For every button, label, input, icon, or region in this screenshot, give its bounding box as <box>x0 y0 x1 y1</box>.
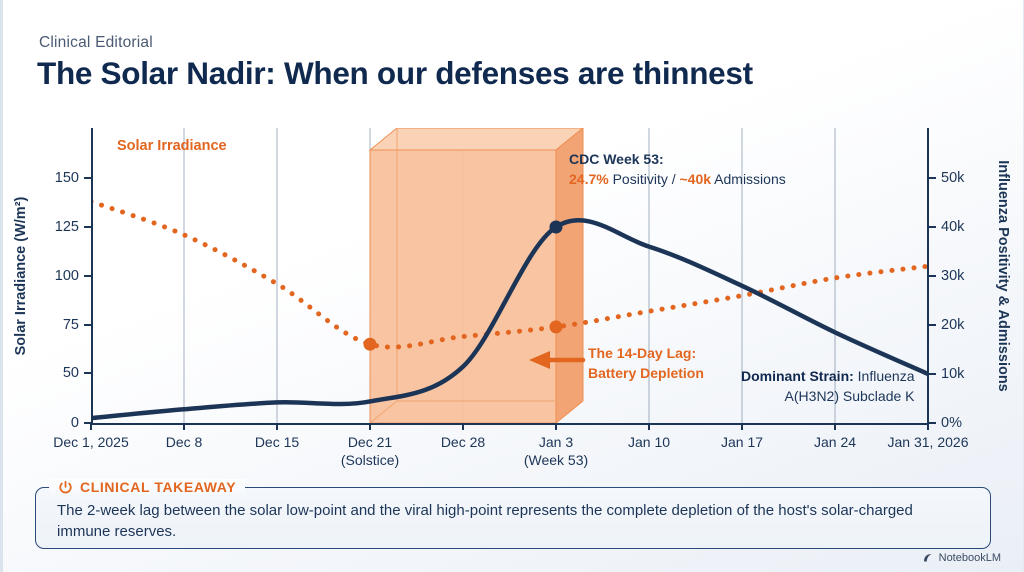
annotation-cdc-week-53: CDC Week 53: 24.7% Positivity / ~40k Adm… <box>569 149 786 190</box>
x-tick-label: Dec 1, 2025 <box>53 434 129 452</box>
x-tick-label: Jan 10 <box>628 434 670 452</box>
x-tick-label: Jan 17 <box>721 434 763 452</box>
x-tick-label: Jan 24 <box>814 434 856 452</box>
brand-label: NotebookLM <box>939 552 1001 564</box>
chart-area: Solar Irradiance (W/m²) Influenza Positi… <box>91 128 929 425</box>
annotation-fourteen-day-lag: The 14-Day Lag: Battery Depletion <box>588 343 704 384</box>
y2-tick-label: 20k <box>941 317 964 333</box>
x-tick <box>741 423 743 430</box>
y-tick-label: 75 <box>63 317 79 333</box>
y-tick-label: 100 <box>55 268 79 284</box>
x-tick <box>90 423 92 430</box>
series-marker <box>550 320 563 333</box>
x-tick-label: Jan 3(Week 53) <box>524 434 588 469</box>
y-tick <box>84 226 91 228</box>
shaded-region-prism <box>370 128 583 423</box>
annotation-strain-line1: Influenza <box>854 368 915 384</box>
annotation-lag-line2: Battery Depletion <box>588 365 704 381</box>
y2-tick-label: 0% <box>941 415 962 431</box>
x-tick-label: Dec 28 <box>441 434 485 452</box>
notebooklm-logo-icon <box>922 552 934 564</box>
series-marker <box>364 338 377 351</box>
y2-tick <box>929 422 936 424</box>
brand-watermark: NotebookLM <box>922 552 1001 564</box>
annotation-admissions-value: ~40k <box>680 171 712 187</box>
x-tick-label: Jan 31, 2026 <box>888 434 969 452</box>
annotation-positivity-text: Positivity / <box>609 171 680 187</box>
y-tick-label: 0 <box>71 415 79 431</box>
x-axis-line <box>91 423 929 425</box>
y2-tick <box>929 373 936 375</box>
annotation-cdc-title: CDC Week 53: <box>569 149 786 169</box>
y2-axis-title: Influenza Positivity & Admissions <box>995 160 1011 392</box>
x-tick <box>927 423 929 430</box>
page-title: The Solar Nadir: When our defenses are t… <box>37 55 753 92</box>
x-tick-label: Dec 15 <box>255 434 299 452</box>
x-tick-label: Dec 21(Solstice) <box>341 434 399 469</box>
annotation-admissions-text: Admissions <box>711 171 786 187</box>
annotation-strain-line2: A(H3N2) Subclade K <box>785 388 915 404</box>
x-tick <box>276 423 278 430</box>
y-axis-title: Solar Irradiance (W/m²) <box>13 197 29 356</box>
y-tick <box>84 177 91 179</box>
x-tick <box>834 423 836 430</box>
x-tick <box>555 423 557 430</box>
y-tick <box>84 275 91 277</box>
annotation-strain-label: Dominant Strain: <box>741 368 854 384</box>
y-tick-label: 125 <box>55 219 79 235</box>
kicker: Clinical Editorial <box>39 34 153 52</box>
y2-tick-label: 30k <box>941 268 964 284</box>
takeaway-title: CLINICAL TAKEAWAY <box>80 479 236 495</box>
legend-solar-irradiance: Solar Irradiance <box>117 138 227 154</box>
y-tick-label: 150 <box>55 170 79 186</box>
y-tick <box>84 324 91 326</box>
takeaway-title-group: CLINICAL TAKEAWAY <box>49 479 245 495</box>
y2-tick-label: 50k <box>941 170 964 186</box>
y2-tick <box>929 177 936 179</box>
y2-tick <box>929 226 936 228</box>
takeaway-body: The 2-week lag between the solar low-poi… <box>57 500 963 543</box>
x-tick <box>648 423 650 430</box>
power-icon <box>58 480 73 495</box>
y2-tick-label: 10k <box>941 366 964 382</box>
series-marker <box>550 221 563 234</box>
x-tick-label: Dec 8 <box>166 434 203 452</box>
x-tick <box>462 423 464 430</box>
y2-tick-label: 40k <box>941 219 964 235</box>
y-tick <box>84 372 91 374</box>
annotation-positivity-value: 24.7% <box>569 171 609 187</box>
annotation-lag-line1: The 14-Day Lag: <box>588 345 696 361</box>
annotation-dominant-strain: Dominant Strain: Influenza A(H3N2) Subcl… <box>741 366 915 407</box>
x-tick <box>183 423 185 430</box>
x-tick <box>369 423 371 430</box>
y-axis-line <box>91 128 93 425</box>
y2-tick <box>929 275 936 277</box>
editorial-infographic: Clinical Editorial The Solar Nadir: When… <box>0 0 1024 572</box>
y-tick-label: 50 <box>63 365 79 381</box>
y2-tick <box>929 324 936 326</box>
